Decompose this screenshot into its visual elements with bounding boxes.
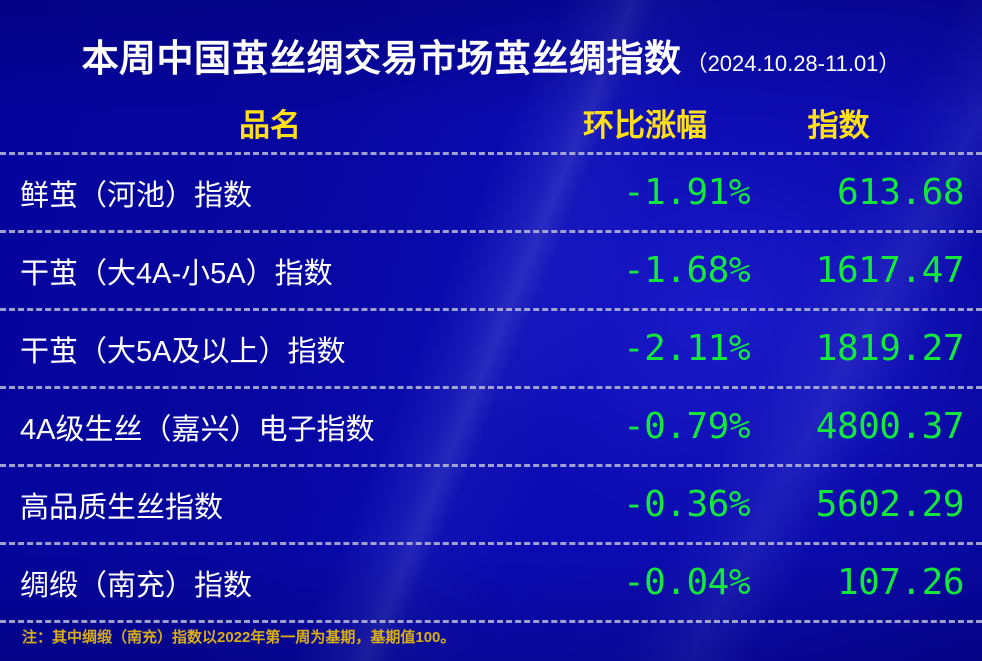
row-divider xyxy=(0,152,982,155)
row-divider xyxy=(0,620,982,623)
page-title-date-range: （2024.10.28-11.01） xyxy=(686,46,901,78)
row-label: 鲜茧（河池）指数 xyxy=(0,172,540,214)
table-row: 4A级生丝（嘉兴）电子指数 -0.79% 4800.37 xyxy=(0,389,982,464)
footnote: 注：其中绸缎（南充）指数以2022年第一周为基期，基期值100。 xyxy=(22,626,455,647)
row-label: 高品质生丝指数 xyxy=(0,484,540,526)
row-index-value: 5602.29 xyxy=(750,484,982,525)
row-divider xyxy=(0,542,982,545)
row-change-value: -1.68% xyxy=(540,250,750,291)
row-index-value: 613.68 xyxy=(750,172,982,213)
index-table: 品名 环比涨幅 指数 鲜茧（河池）指数 -1.91% 613.68 干茧（大4A… xyxy=(0,92,982,623)
row-change-value: -2.11% xyxy=(540,328,750,369)
row-label: 干茧（大5A及以上）指数 xyxy=(0,328,540,370)
page-title-main: 本周中国茧丝绸交易市场茧丝绸指数 xyxy=(82,28,682,82)
column-header-name: 品名 xyxy=(0,100,540,145)
row-divider xyxy=(0,386,982,389)
row-change-value: -1.91% xyxy=(540,172,750,213)
row-divider xyxy=(0,230,982,233)
table-row: 鲜茧（河池）指数 -1.91% 613.68 xyxy=(0,155,982,230)
column-header-index: 指数 xyxy=(750,100,982,145)
silk-index-infographic: 本周中国茧丝绸交易市场茧丝绸指数 （2024.10.28-11.01） 品名 环… xyxy=(0,0,982,661)
row-change-value: -0.79% xyxy=(540,406,750,447)
table-row: 高品质生丝指数 -0.36% 5602.29 xyxy=(0,467,982,542)
row-divider xyxy=(0,308,982,311)
row-index-value: 107.26 xyxy=(750,562,982,603)
column-header-change: 环比涨幅 xyxy=(540,100,750,145)
row-index-value: 4800.37 xyxy=(750,406,982,447)
table-row: 绸缎（南充）指数 -0.04% 107.26 xyxy=(0,545,982,620)
row-label: 4A级生丝（嘉兴）电子指数 xyxy=(0,406,540,448)
table-row: 干茧（大4A-小5A）指数 -1.68% 1617.47 xyxy=(0,233,982,308)
row-index-value: 1819.27 xyxy=(750,328,982,369)
row-change-value: -0.36% xyxy=(540,484,750,525)
table-row: 干茧（大5A及以上）指数 -2.11% 1819.27 xyxy=(0,311,982,386)
row-label: 绸缎（南充）指数 xyxy=(0,562,540,604)
row-divider xyxy=(0,464,982,467)
page-title: 本周中国茧丝绸交易市场茧丝绸指数 （2024.10.28-11.01） xyxy=(0,28,982,78)
table-header-row: 品名 环比涨幅 指数 xyxy=(0,92,982,152)
row-label: 干茧（大4A-小5A）指数 xyxy=(0,250,540,292)
row-index-value: 1617.47 xyxy=(750,250,982,291)
row-change-value: -0.04% xyxy=(540,562,750,603)
